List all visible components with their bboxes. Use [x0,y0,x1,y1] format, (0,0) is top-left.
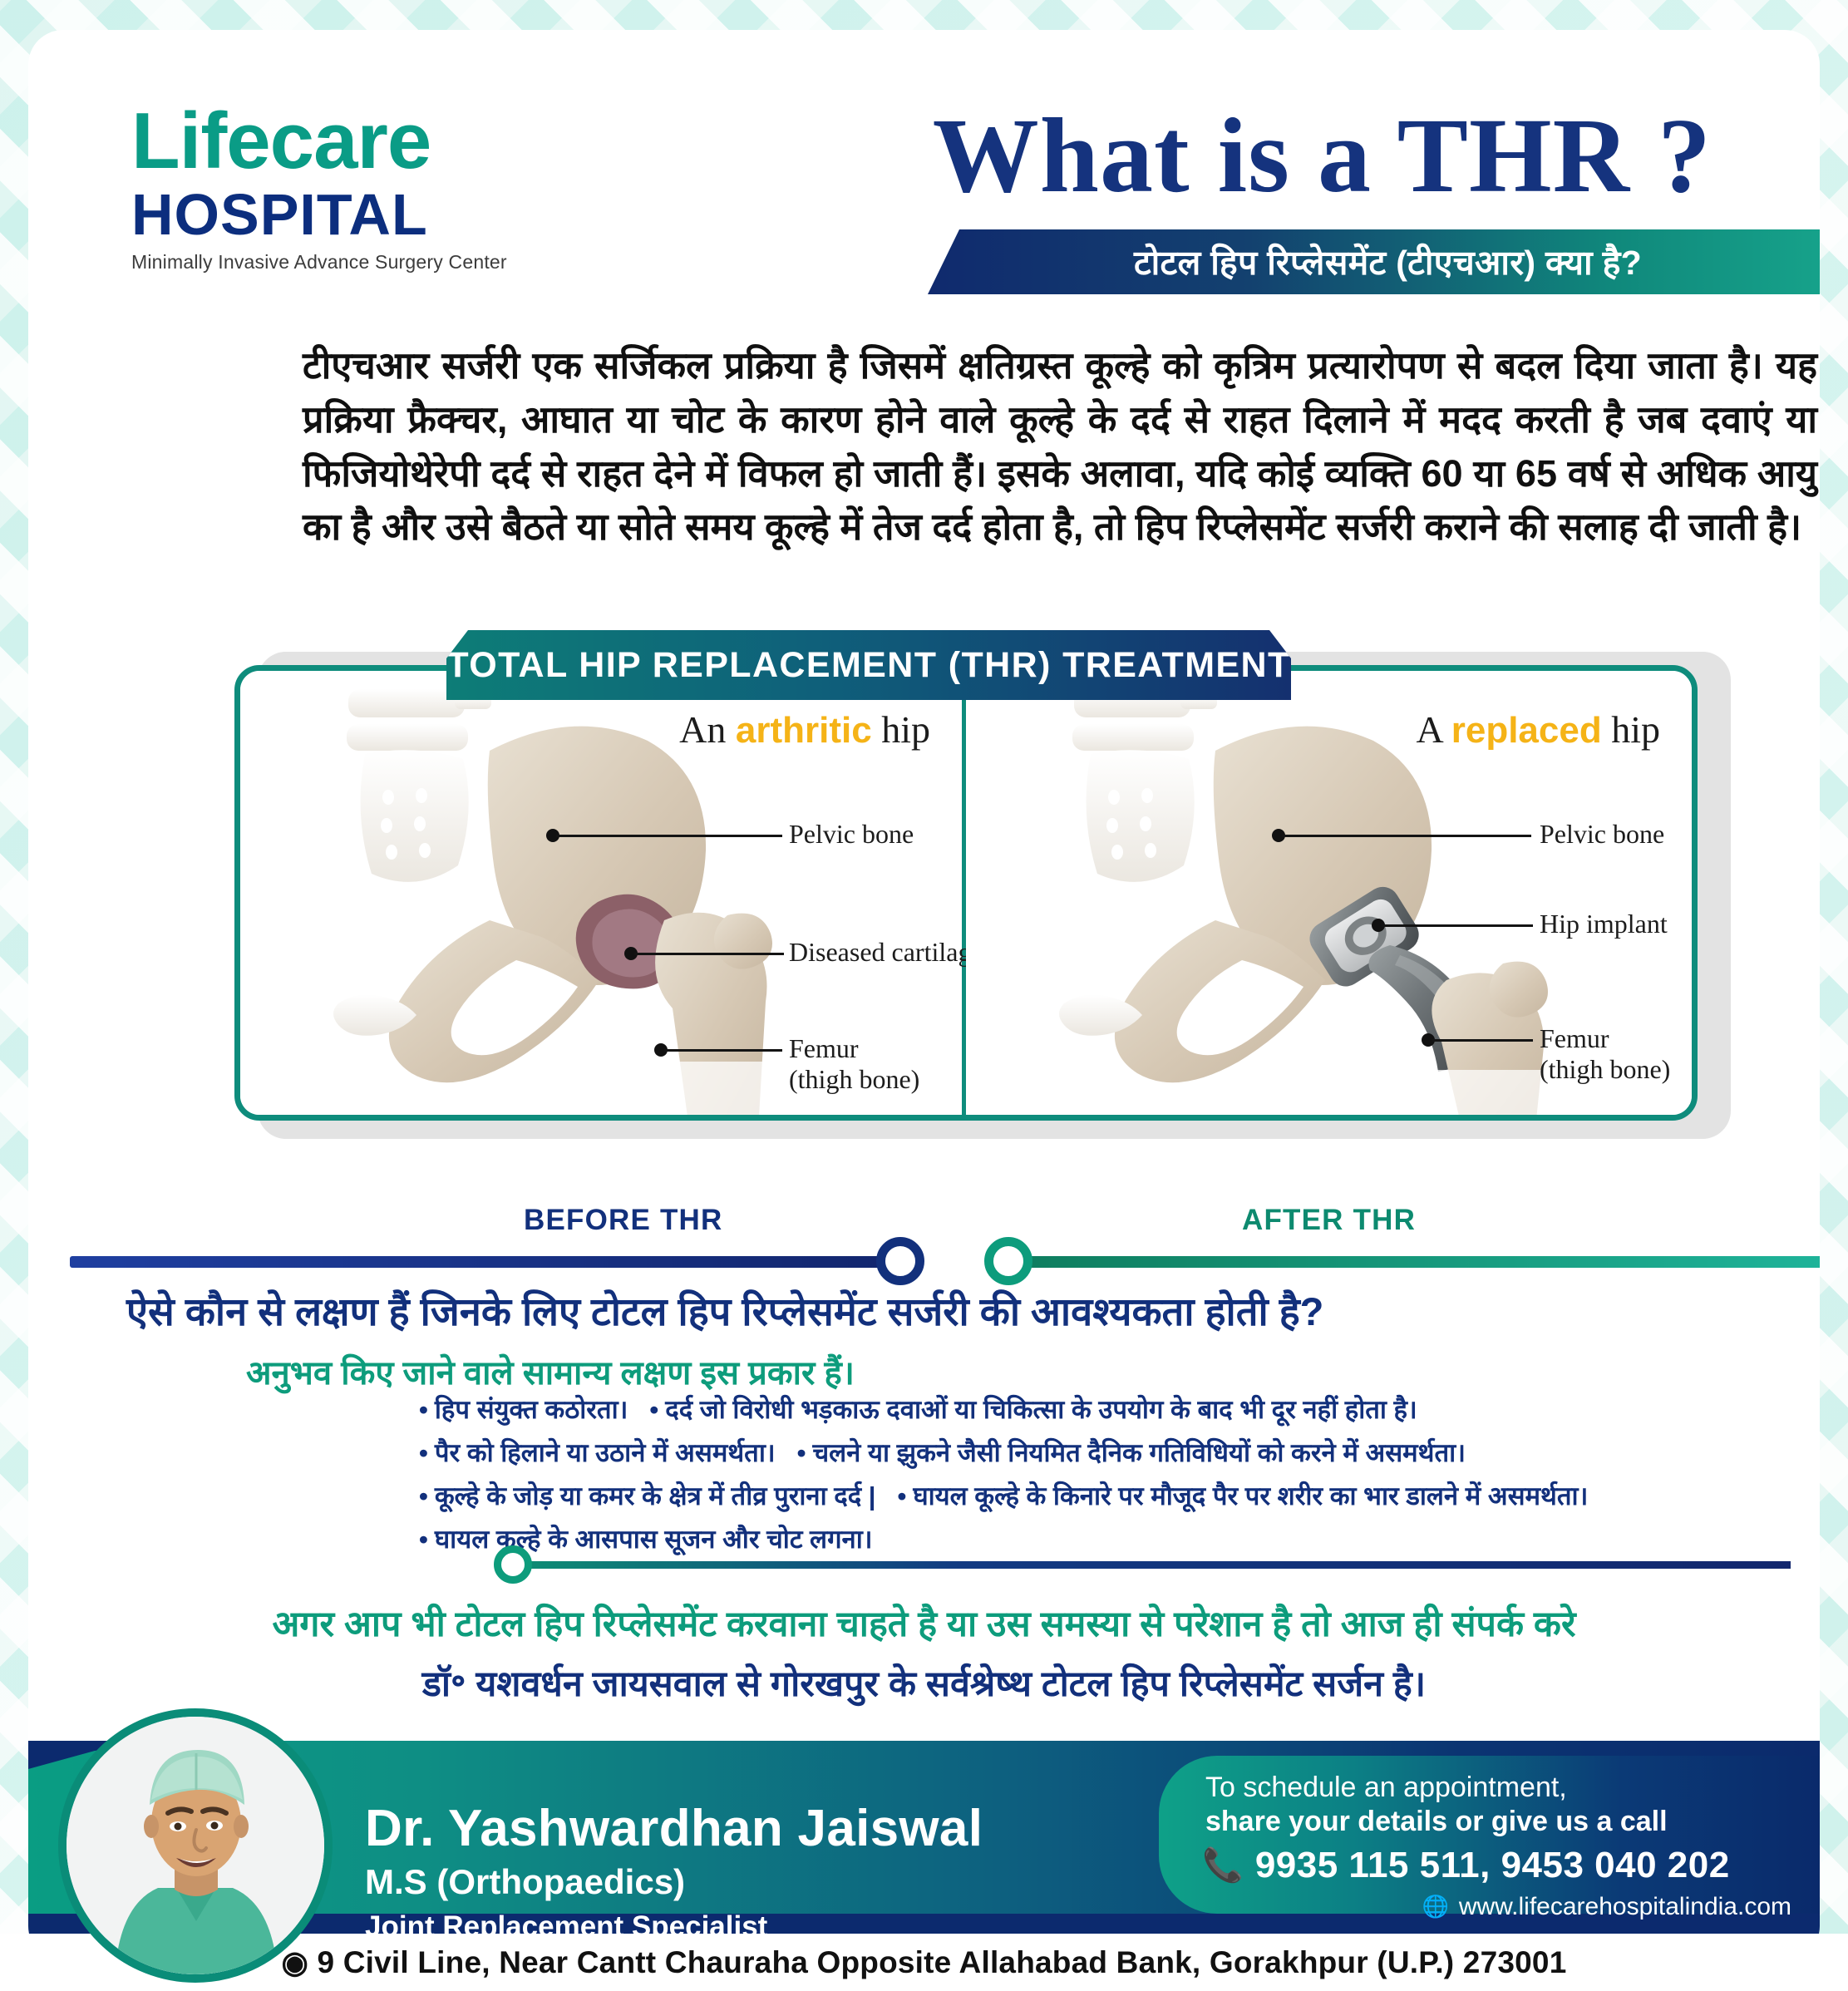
list-item: •घायल कूल्हे के आसपास सूजन और चोट लगना। [419,1526,1766,1552]
panel-title-replaced: A replaced hip [1417,707,1660,752]
panel-arthritic-hip: An arthritic hip Pelvic bone Diseased ca… [240,671,966,1115]
label-femur-sub: (thigh bone) [789,1064,919,1094]
diagram-banner-label: TOTAL HIP REPLACEMENT (THR) TREATMENT [446,645,1290,686]
timeline-label-before: BEFORE THR [524,1204,723,1237]
bullet-icon: • [419,1481,428,1510]
leader-line-pelvic [556,835,782,837]
panel-replaced-hip: A replaced hip Pelvic bone Hip implant F… [966,671,1692,1115]
leader-line-cartilage [634,953,784,955]
bullet-icon: • [649,1395,658,1424]
panel-title-highlight: arthritic [736,710,872,751]
cta-divider-node [494,1545,532,1584]
symptom-text: हिप संयुक्त कठोरता। [435,1395,628,1424]
infographic-page: Lifecare HOSPITAL Minimally Invasive Adv… [0,0,1848,1991]
bullet-icon: • [419,1525,428,1554]
timeline-label-after: AFTER THR [1242,1204,1416,1237]
label-hip-implant: Hip implant [1540,909,1668,939]
label-femur-sub-2: (thigh bone) [1540,1054,1670,1084]
timeline-node-after [984,1237,1032,1285]
content-card: Lifecare HOSPITAL Minimally Invasive Adv… [28,30,1820,1961]
bullet-icon: • [419,1438,428,1467]
panel-title-prefix-2: A [1417,708,1451,751]
timeline-line-after [1013,1256,1820,1268]
label-femur-main: Femur [789,1033,859,1063]
timeline-node-before [876,1237,924,1285]
brand-name-secondary: HOSPITAL [131,185,507,246]
phone-icon: 📞 [1202,1849,1244,1882]
address-text: ◉ 9 Civil Line, Near Cantt Chauraha Oppo… [282,1944,1567,1980]
symptom-text: दर्द जो विरोधी भड़काऊ दवाओं या चिकित्सा … [665,1395,1417,1424]
treatment-diagram: TOTAL HIP REPLACEMENT (THR) TREATMENT [234,630,1731,1139]
panel-title-suffix-2: hip [1602,708,1660,751]
cta-divider-line [519,1561,1791,1569]
address-value: 9 Civil Line, Near Cantt Chauraha Opposi… [318,1945,1567,1979]
diagram-card: An arthritic hip Pelvic bone Diseased ca… [234,665,1698,1121]
website-url[interactable]: www.lifecarehospitalindia.com [1459,1893,1791,1921]
symptoms-list: •हिप संयुक्त कठोरता।•दर्द जो विरोधी भड़क… [419,1397,1766,1570]
label-femur-main-2: Femur [1540,1023,1609,1053]
doctor-name: Dr. Yashwardhan Jaiswal [365,1799,983,1858]
doctor-portrait-svg [67,1717,324,1974]
panel-title-highlight-2: replaced [1451,710,1602,751]
globe-icon: 🌐 [1422,1894,1448,1920]
cta-line-1: अगर आप भी टोटल हिप रिप्लेसमेंट करवाना चा… [28,1598,1820,1647]
bullet-icon: • [797,1438,806,1467]
doctor-avatar [58,1708,333,1983]
doctor-degree: M.S (Orthopaedics) [365,1862,685,1902]
page-subtitle-ribbon: टोटल हिप रिप्लेसमेंट (टीएचआर) क्या है? [928,229,1820,294]
panel-title-prefix: An [679,708,736,751]
list-item: •कूल्हे के जोड़ या कमर के क्षेत्र में ती… [419,1483,1766,1509]
cta-line-2: डॉ॰ यशवर्धन जायसवाल से गोरखपुर के सर्वश्… [28,1658,1820,1707]
leader-line-implant [1382,924,1533,927]
website-row[interactable]: 🌐 www.lifecarehospitalindia.com [1205,1893,1791,1921]
label-femur: Femur (thigh bone) [789,1033,919,1095]
leader-line-pelvic-2 [1282,835,1531,837]
contact-line-2: share your details or give us a call [1205,1805,1791,1839]
brand-logo: Lifecare HOSPITAL Minimally Invasive Adv… [131,101,507,274]
label-diseased-cartilage: Diseased cartilage [789,937,983,968]
symptoms-subtitle: अनुभव किए जाने वाले सामान्य लक्षण इस प्र… [246,1348,855,1394]
location-pin-icon: ◉ [282,1945,309,1979]
list-item: •हिप संयुक्त कठोरता।•दर्द जो विरोधी भड़क… [419,1397,1766,1422]
panel-title-arthritic: An arthritic hip [679,707,930,752]
contact-panel: To schedule an appointment, share your d… [1159,1756,1820,1914]
page-title: What is a THR ? [933,95,1712,217]
leader-line-femur [664,1049,782,1052]
bullet-icon: • [419,1395,428,1424]
bullet-icon: • [897,1481,906,1510]
contact-line-1: To schedule an appointment, [1205,1771,1791,1805]
list-item: •पैर को हिलाने या उठाने में असमर्थता।•चल… [419,1440,1766,1466]
page-subtitle: टोटल हिप रिप्लेसमेंट (टीएचआर) क्या है? [1134,239,1642,285]
intro-paragraph: टीएचआर सर्जरी एक सर्जिकल प्रक्रिया है जि… [303,339,1817,554]
phone-number[interactable]: 9935 115 511, 9453 040 202 [1255,1845,1730,1886]
symptom-text: चलने या झुकने जैसी नियमित दैनिक गतिविधिय… [812,1438,1465,1467]
symptom-text: कूल्हे के जोड़ या कमर के क्षेत्र में तीव… [435,1481,876,1510]
panel-title-suffix: hip [872,708,930,751]
timeline-line-before [70,1256,891,1268]
label-pelvic-bone-2: Pelvic bone [1540,819,1664,850]
phone-row[interactable]: 📞 9935 115 511, 9453 040 202 [1202,1845,1791,1886]
brand-name-primary: Lifecare [131,101,507,181]
diagram-banner: TOTAL HIP REPLACEMENT (THR) TREATMENT [446,630,1291,700]
symptoms-question: ऐसे कौन से लक्षण हैं जिनके लिए टोटल हिप … [126,1284,1789,1337]
brand-tagline: Minimally Invasive Advance Surgery Cente… [131,251,507,274]
label-pelvic-bone: Pelvic bone [789,819,914,850]
symptom-text: पैर को हिलाने या उठाने में असमर्थता। [435,1438,776,1467]
leader-line-femur-2 [1432,1039,1533,1042]
symptom-text: घायल कूल्हे के किनारे पर मौजूद पैर पर शर… [913,1481,1588,1510]
label-femur-2: Femur (thigh bone) [1540,1023,1670,1085]
